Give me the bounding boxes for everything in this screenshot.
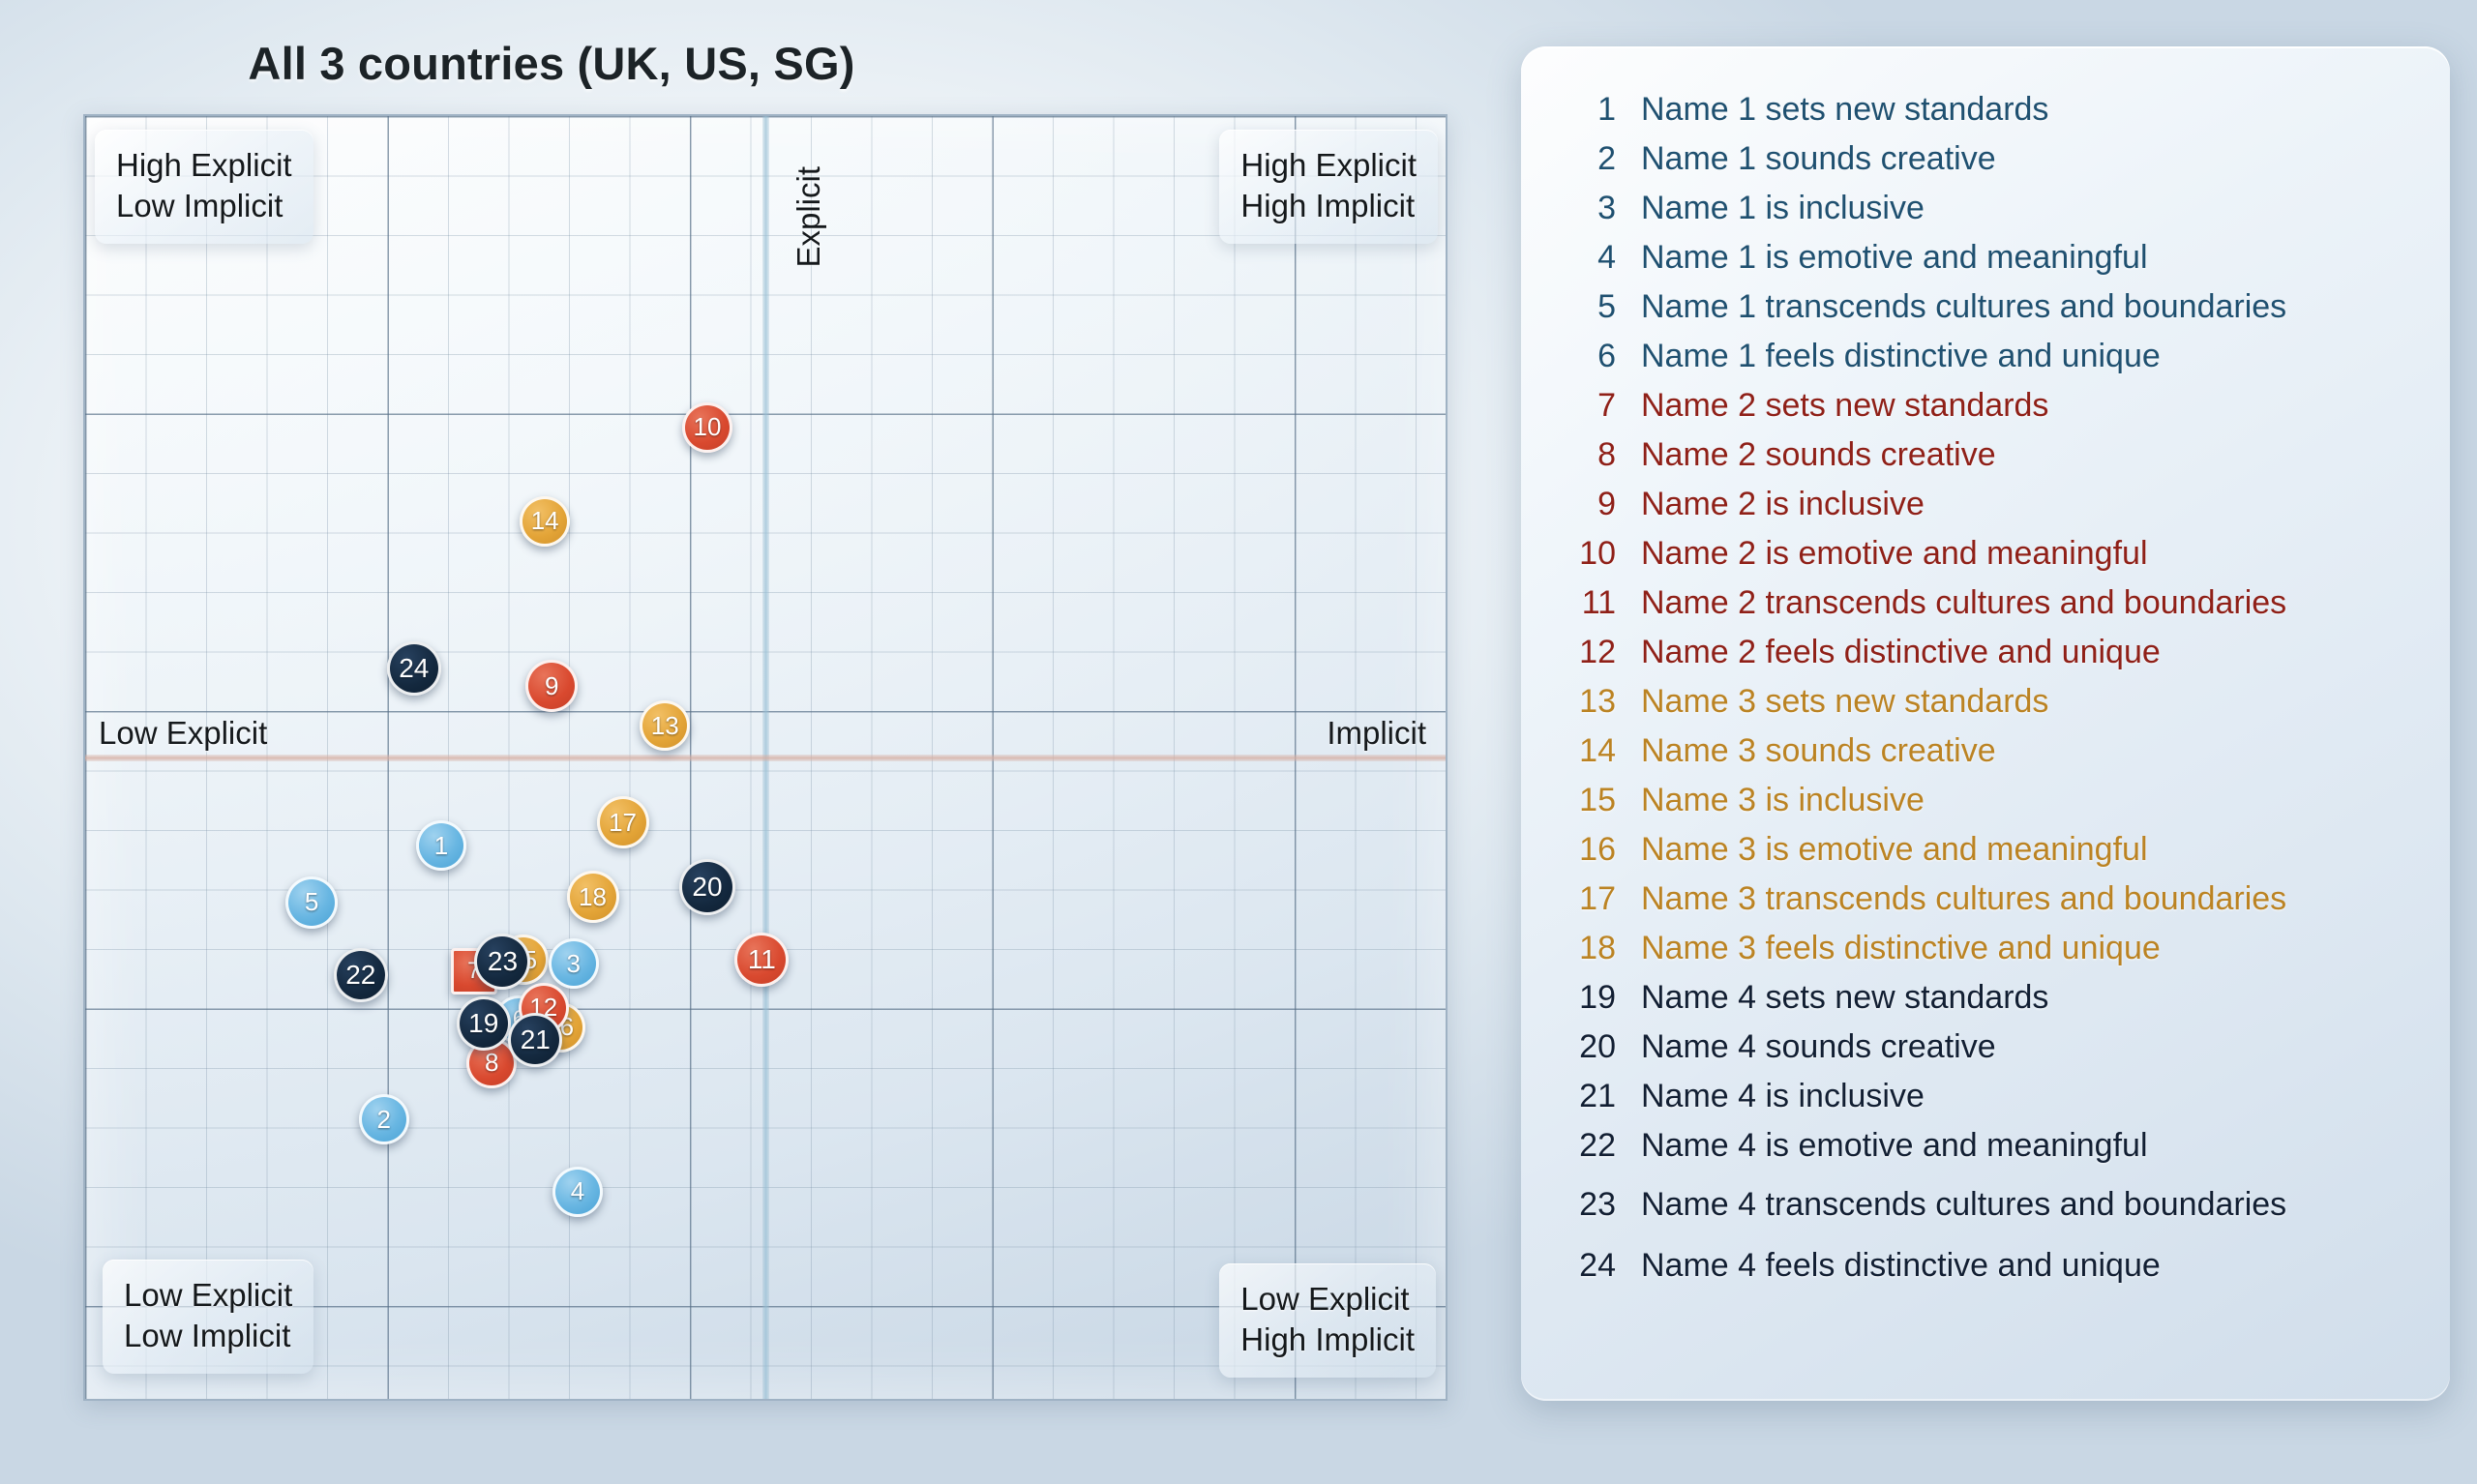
quadrant-bl-line2: Low Implicit [124,1316,292,1356]
data-point-label: 3 [567,949,581,979]
legend-item-15[interactable]: 15Name 3 is inclusive [1554,782,2421,831]
legend-item-14[interactable]: 14Name 3 sounds creative [1554,732,2421,782]
legend-item-label: Name 2 sets new standards [1641,387,2048,425]
quadrant-tr-line2: High Implicit [1240,186,1417,226]
legend-item-2[interactable]: 2Name 1 sounds creative [1554,140,2421,190]
legend-item-23[interactable]: 23Name 4 transcends cultures and boundar… [1554,1186,2421,1235]
legend-item-12[interactable]: 12Name 2 feels distinctive and unique [1554,634,2421,683]
data-point-9[interactable]: 9 [525,660,578,712]
legend-item-label: Name 2 is inclusive [1641,486,1925,523]
legend-item-17[interactable]: 17Name 3 transcends cultures and boundar… [1554,880,2421,930]
legend-item-number: 5 [1554,288,1616,326]
legend-item-number: 3 [1554,190,1616,227]
legend-item-label: Name 1 sounds creative [1641,140,1996,178]
quadrant-tl-line1: High Explicit [116,145,292,186]
scatter-chart-panel: All 3 countries (UK, US, SG) Explicit Lo… [0,0,1509,1484]
legend-item-number: 10 [1554,535,1616,573]
legend-item-5[interactable]: 5Name 1 transcends cultures and boundari… [1554,288,2421,338]
quadrant-label-top-right: High Explicit High Implicit [1219,130,1438,244]
legend-item-number: 7 [1554,387,1616,425]
legend-item-number: 8 [1554,436,1616,474]
legend-item-number: 12 [1554,634,1616,671]
data-point-label: 24 [399,653,429,684]
legend-item-label: Name 3 transcends cultures and boundarie… [1641,880,2286,918]
legend-item-number: 22 [1554,1127,1616,1165]
data-point-4[interactable]: 4 [552,1167,603,1217]
legend-item-number: 21 [1554,1078,1616,1115]
data-point-10[interactable]: 10 [682,402,732,453]
data-point-3[interactable]: 3 [549,938,599,989]
legend-item-22[interactable]: 22Name 4 is emotive and meaningful [1554,1127,2421,1176]
data-point-label: 8 [485,1048,498,1078]
legend-item-label: Name 2 transcends cultures and boundarie… [1641,584,2286,622]
data-point-label: 23 [488,946,518,977]
data-point-18[interactable]: 18 [567,871,619,923]
legend-item-label: Name 1 is emotive and meaningful [1641,239,2148,277]
legend-item-4[interactable]: 4Name 1 is emotive and meaningful [1554,239,2421,288]
legend-item-label: Name 3 is emotive and meaningful [1641,831,2148,869]
legend-item-number: 16 [1554,831,1616,869]
legend-item-number: 1 [1554,91,1616,129]
data-point-label: 10 [693,412,721,442]
legend-item-label: Name 3 sounds creative [1641,732,1996,770]
legend-item-8[interactable]: 8Name 2 sounds creative [1554,436,2421,486]
data-point-17[interactable]: 17 [597,796,649,848]
legend-item-3[interactable]: 3Name 1 is inclusive [1554,190,2421,239]
legend-item-number: 23 [1554,1186,1616,1224]
legend-item-13[interactable]: 13Name 3 sets new standards [1554,683,2421,732]
data-point-19[interactable]: 19 [457,996,511,1051]
chart-page: All 3 countries (UK, US, SG) Explicit Lo… [0,0,2477,1484]
data-point-label: 19 [468,1008,498,1039]
data-point-22[interactable]: 22 [334,948,388,1002]
legend-item-label: Name 1 is inclusive [1641,190,1925,227]
legend-item-label: Name 4 is emotive and meaningful [1641,1127,2148,1165]
legend-item-number: 6 [1554,338,1616,375]
data-point-11[interactable]: 11 [734,933,789,987]
minor-gridlines [85,116,1446,1399]
data-point-24[interactable]: 24 [387,641,441,696]
data-point-label: 1 [434,831,448,861]
legend-item-20[interactable]: 20Name 4 sounds creative [1554,1028,2421,1078]
data-point-label: 20 [692,872,722,903]
legend-item-1[interactable]: 1Name 1 sets new standards [1554,91,2421,140]
chart-title: All 3 countries (UK, US, SG) [0,37,1509,90]
legend-item-label: Name 3 feels distinctive and unique [1641,930,2161,967]
legend-item-number: 13 [1554,683,1616,721]
data-point-5[interactable]: 5 [285,876,338,929]
data-point-14[interactable]: 14 [520,496,570,547]
legend-item-number: 17 [1554,880,1616,918]
quadrant-label-top-left: High Explicit Low Implicit [95,130,313,244]
legend-item-number: 14 [1554,732,1616,770]
data-point-13[interactable]: 13 [640,700,690,751]
axis-label-implicit: Implicit [1327,715,1426,752]
legend-panel: 1Name 1 sets new standards2Name 1 sounds… [1521,46,2450,1401]
quadrant-br-line2: High Implicit [1240,1320,1415,1360]
quadrant-label-bottom-left: Low Explicit Low Implicit [103,1260,313,1374]
legend-item-label: Name 3 sets new standards [1641,683,2048,721]
legend-item-label: Name 3 is inclusive [1641,782,1925,819]
legend-item-number: 24 [1554,1247,1616,1285]
data-point-label: 5 [305,887,318,917]
legend-item-label: Name 1 feels distinctive and unique [1641,338,2161,375]
data-point-23[interactable]: 23 [474,934,530,990]
data-point-label: 9 [545,671,558,701]
legend-item-label: Name 4 sounds creative [1641,1028,1996,1066]
legend-item-label: Name 2 is emotive and meaningful [1641,535,2148,573]
legend-item-16[interactable]: 16Name 3 is emotive and meaningful [1554,831,2421,880]
data-point-label: 2 [377,1105,391,1135]
legend-item-6[interactable]: 6Name 1 feels distinctive and unique [1554,338,2421,387]
data-point-label: 14 [531,506,559,536]
legend-item-label: Name 1 transcends cultures and boundarie… [1641,288,2286,326]
legend-item-10[interactable]: 10Name 2 is emotive and meaningful [1554,535,2421,584]
legend-item-number: 2 [1554,140,1616,178]
quadrant-br-line1: Low Explicit [1240,1279,1415,1320]
legend-item-19[interactable]: 19Name 4 sets new standards [1554,979,2421,1028]
legend-item-label: Name 2 sounds creative [1641,436,1996,474]
data-point-label: 21 [521,1024,551,1055]
legend-item-label: Name 1 sets new standards [1641,91,2048,129]
quadrant-tl-line2: Low Implicit [116,186,292,226]
quadrant-label-bottom-right: Low Explicit High Implicit [1219,1263,1436,1378]
data-point-2[interactable]: 2 [359,1094,409,1144]
vertical-axis-line [762,116,769,1399]
legend-item-number: 18 [1554,930,1616,967]
axis-label-low-explicit: Low Explicit [99,715,267,752]
legend-item-21[interactable]: 21Name 4 is inclusive [1554,1078,2421,1127]
legend-item-label: Name 4 is inclusive [1641,1078,1925,1115]
legend-item-number: 11 [1554,584,1616,622]
axis-label-explicit: Explicit [791,166,827,268]
legend-item-9[interactable]: 9Name 2 is inclusive [1554,486,2421,535]
quadrant-tr-line1: High Explicit [1240,145,1417,186]
legend-item-number: 4 [1554,239,1616,277]
legend-item-label: Name 4 feels distinctive and unique [1641,1247,2161,1285]
plot-area: Explicit Low Explicit Implicit High Expl… [83,114,1447,1401]
data-point-label: 4 [571,1176,584,1206]
data-point-20[interactable]: 20 [679,859,735,915]
legend-item-number: 20 [1554,1028,1616,1066]
legend-item-label: Name 4 transcends cultures and boundarie… [1641,1186,2286,1224]
major-gridlines [85,116,1446,1399]
legend-item-24[interactable]: 24Name 4 feels distinctive and unique [1554,1247,2421,1296]
data-point-label: 13 [651,711,679,741]
data-point-1[interactable]: 1 [416,820,466,871]
data-point-21[interactable]: 21 [508,1013,562,1067]
legend-item-number: 15 [1554,782,1616,819]
data-point-label: 22 [345,960,375,991]
legend-item-18[interactable]: 18Name 3 feels distinctive and unique [1554,930,2421,979]
data-point-label: 11 [748,944,776,975]
data-point-label: 18 [579,882,607,912]
legend-item-number: 19 [1554,979,1616,1017]
legend-item-label: Name 4 sets new standards [1641,979,2048,1017]
horizontal-axis-line [85,755,1446,761]
legend-item-11[interactable]: 11Name 2 transcends cultures and boundar… [1554,584,2421,634]
legend-item-7[interactable]: 7Name 2 sets new standards [1554,387,2421,436]
legend-item-label: Name 2 feels distinctive and unique [1641,634,2161,671]
legend-list: 1Name 1 sets new standards2Name 1 sounds… [1554,91,2421,1296]
data-point-label: 17 [609,808,637,838]
quadrant-bl-line1: Low Explicit [124,1275,292,1316]
legend-item-number: 9 [1554,486,1616,523]
